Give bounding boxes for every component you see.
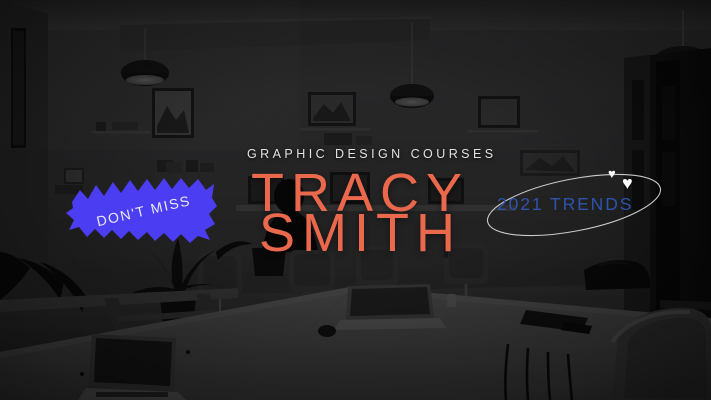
title-line-two: SMITH <box>259 206 462 260</box>
heart-icon-large: ♥ <box>622 174 633 192</box>
trends-label: 2021 TRENDS <box>497 194 633 215</box>
kicker-text: GRAPHIC DESIGN COURSES <box>247 147 497 161</box>
poster-canvas: DON'T MISS GRAPHIC DESIGN COURSES TRACY … <box>0 0 711 400</box>
trends-group[interactable]: 2021 TRENDS <box>483 172 665 238</box>
heart-icon-small: ♥ <box>608 167 616 180</box>
dont-miss-badge[interactable]: DON'T MISS <box>66 172 218 244</box>
badge-label-text: DON'T MISS <box>95 192 192 229</box>
